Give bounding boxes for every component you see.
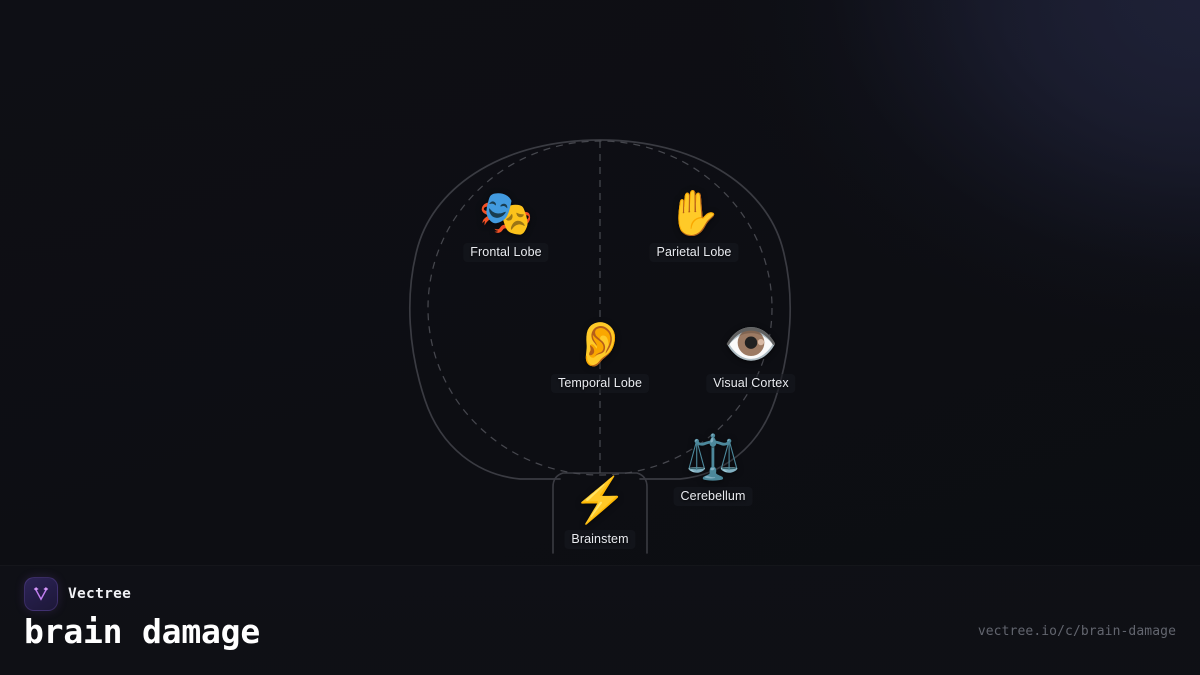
- raised-hand-icon: ✋: [667, 188, 722, 240]
- lightning-bolt-icon: ⚡: [573, 475, 628, 527]
- node-label-cerebellum: Cerebellum: [674, 487, 753, 506]
- node-brainstem[interactable]: ⚡ Brainstem: [564, 475, 635, 549]
- brand-name: Vectree: [68, 586, 131, 602]
- brand-row[interactable]: Vectree: [24, 577, 131, 611]
- eye-icon: 👁️: [724, 319, 779, 371]
- page-url: vectree.io/c/brain-damage: [978, 624, 1176, 639]
- page-title: brain damage: [24, 611, 260, 653]
- node-visual-cortex[interactable]: 👁️ Visual Cortex: [706, 319, 795, 393]
- node-label-visual-cortex: Visual Cortex: [706, 374, 795, 393]
- balance-scale-icon: ⚖️: [686, 432, 741, 484]
- ear-icon: 👂: [573, 319, 628, 371]
- screenshot-canvas: 🎭 Frontal Lobe ✋ Parietal Lobe 👂 Tempora…: [0, 0, 1200, 675]
- node-label-frontal-lobe: Frontal Lobe: [463, 243, 548, 262]
- node-frontal-lobe[interactable]: 🎭 Frontal Lobe: [463, 188, 548, 262]
- footer-divider: [0, 565, 1200, 566]
- node-label-parietal-lobe: Parietal Lobe: [650, 243, 739, 262]
- vectree-v-logo-icon: [24, 577, 58, 611]
- node-temporal-lobe[interactable]: 👂 Temporal Lobe: [551, 319, 649, 393]
- node-label-brainstem: Brainstem: [564, 530, 635, 549]
- node-parietal-lobe[interactable]: ✋ Parietal Lobe: [650, 188, 739, 262]
- performing-arts-masks-icon: 🎭: [479, 188, 534, 240]
- node-label-temporal-lobe: Temporal Lobe: [551, 374, 649, 393]
- node-cerebellum[interactable]: ⚖️ Cerebellum: [674, 432, 753, 506]
